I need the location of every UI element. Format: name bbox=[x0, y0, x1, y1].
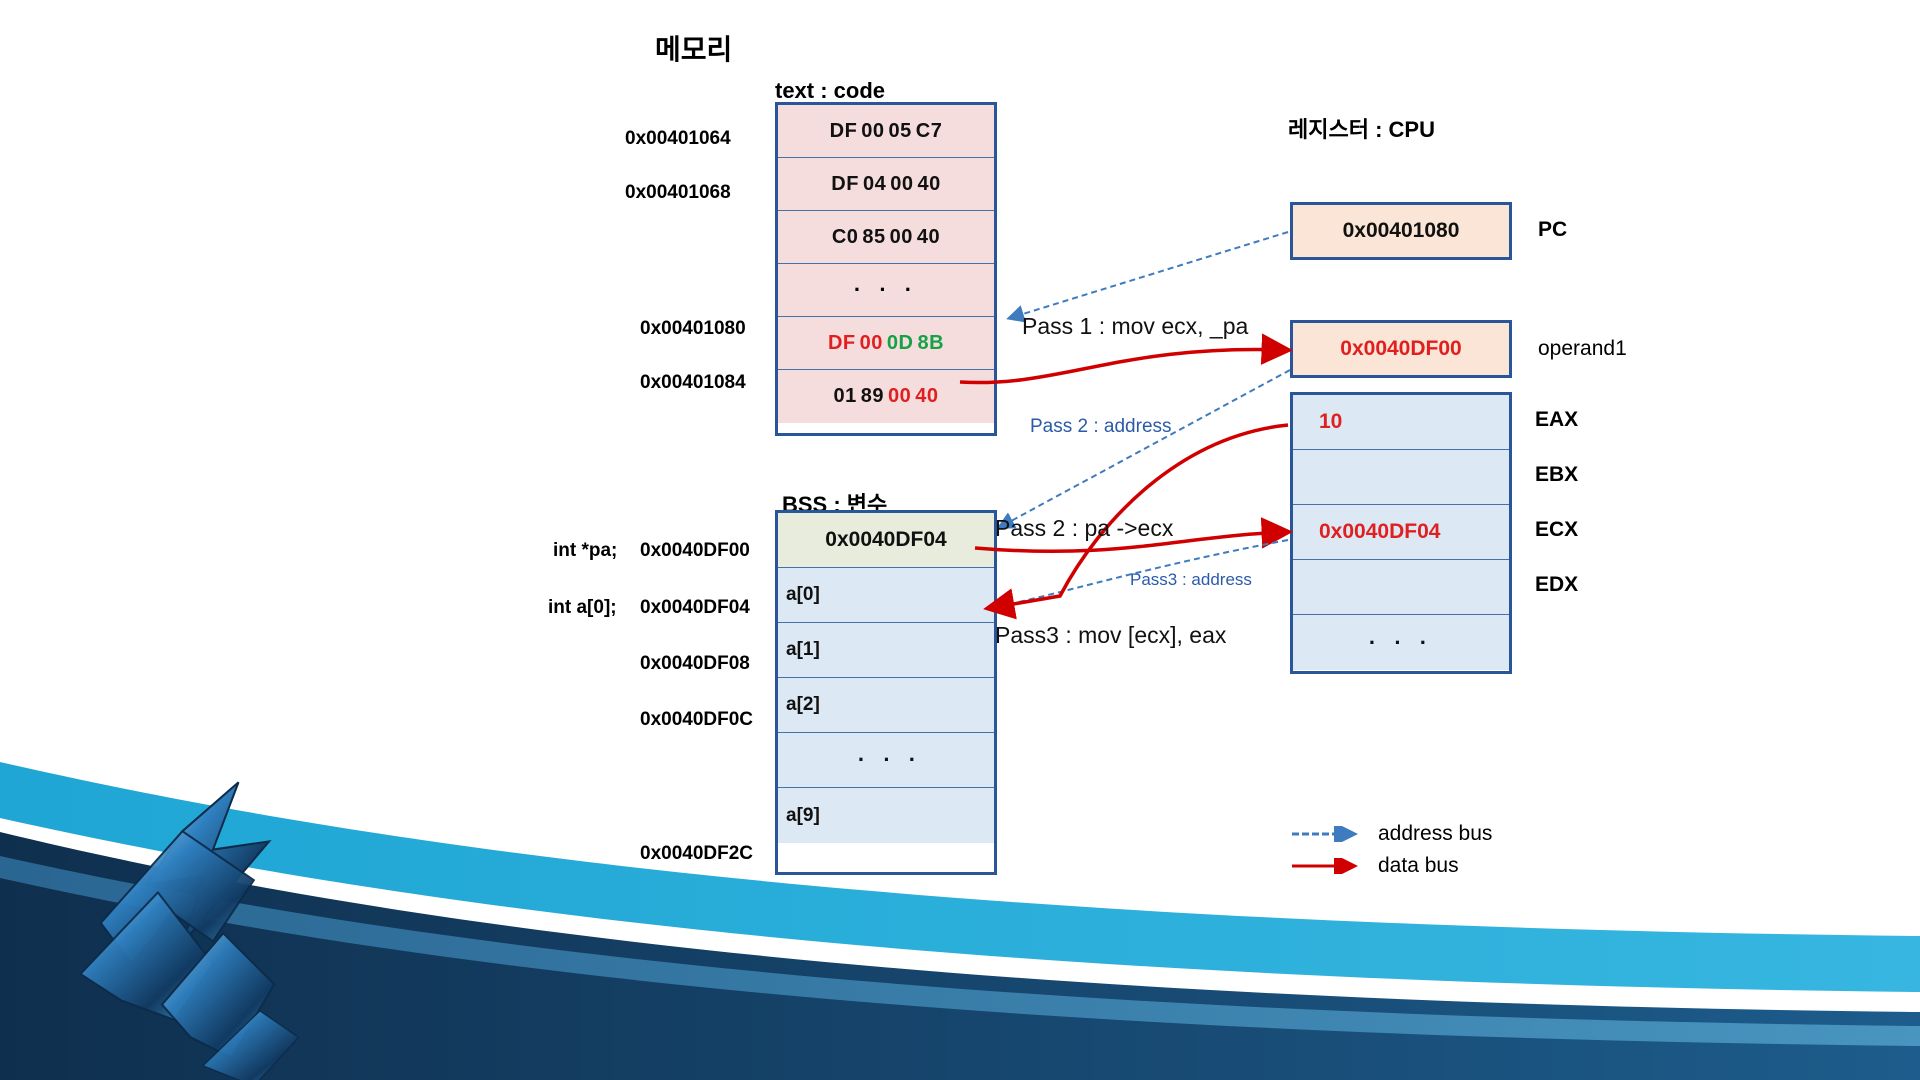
legend-label-data-bus: data bus bbox=[1378, 854, 1459, 878]
arrow-pc-to-code bbox=[1010, 232, 1288, 318]
legend-item-address-bus: address bus bbox=[1290, 818, 1492, 850]
code-address-label: 0x00401064 bbox=[625, 128, 731, 150]
bss-row: a[2] bbox=[778, 678, 994, 733]
bss-address-label: 0x0040DF08 bbox=[640, 653, 750, 675]
code-byte: 89 bbox=[861, 385, 884, 408]
code-address-label: 0x00401068 bbox=[625, 182, 731, 204]
operand1-box: 0x0040DF00 bbox=[1290, 320, 1512, 378]
register-label-edx: EDX bbox=[1535, 573, 1578, 597]
code-byte: C0 bbox=[832, 226, 859, 249]
register-row-edx bbox=[1293, 560, 1509, 615]
bss-address-label: 0x0040DF0C bbox=[640, 709, 753, 731]
register-row-eax: 10 bbox=[1293, 395, 1509, 450]
bss-address-label: 0x0040DF2C bbox=[640, 843, 753, 865]
code-byte: 00 bbox=[861, 120, 884, 143]
legend-label-address-bus: address bus bbox=[1378, 822, 1492, 846]
register-row-ecx: 0x0040DF04 bbox=[1293, 505, 1509, 560]
code-byte: 40 bbox=[915, 385, 938, 408]
code-byte: 40 bbox=[917, 173, 940, 196]
code-byte: 85 bbox=[862, 226, 885, 249]
arrow-code-to-operand1 bbox=[960, 349, 1286, 382]
register-row-ebx bbox=[1293, 450, 1509, 505]
code-byte: DF bbox=[828, 332, 856, 355]
bss-declaration: int *pa; bbox=[553, 540, 617, 562]
bss-row-ellipsis: · · · bbox=[778, 733, 994, 788]
data-bus-line-icon bbox=[1290, 858, 1366, 874]
arrow-operand1-to-bss bbox=[1000, 370, 1290, 527]
bss-declaration: int a[0]; bbox=[548, 597, 617, 619]
code-byte: 40 bbox=[917, 226, 940, 249]
code-byte: 05 bbox=[889, 120, 912, 143]
pass2-ecx-annotation: Pass 2 : pa ->ecx bbox=[995, 515, 1173, 542]
code-byte: DF bbox=[831, 173, 859, 196]
text-code-caption: text : code bbox=[775, 78, 885, 104]
bss-memory-table: 0x0040DF04 a[0] a[1] a[2] · · · a[9] bbox=[775, 510, 997, 875]
code-byte: 00 bbox=[890, 173, 913, 196]
cpu-caption: 레지스터 : CPU bbox=[1288, 112, 1435, 144]
code-row: DF 00 05 C7 bbox=[778, 105, 994, 158]
code-memory-table: DF 00 05 C7 DF 04 00 40 C0 85 00 40 · · … bbox=[775, 102, 997, 436]
code-byte: 00 bbox=[890, 226, 913, 249]
code-row-ellipsis: · · · bbox=[778, 264, 994, 317]
code-row: 01 89 00 40 bbox=[778, 370, 994, 423]
slide-canvas: 메모리 text : code BSS : 변수 레지스터 : CPU DF 0… bbox=[0, 0, 1920, 1080]
code-byte: C7 bbox=[916, 120, 943, 143]
bss-row-pa: 0x0040DF04 bbox=[778, 513, 994, 568]
bus-legend: address bus data bus bbox=[1290, 818, 1492, 882]
code-row: C0 85 00 40 bbox=[778, 211, 994, 264]
code-byte: DF bbox=[830, 120, 858, 143]
pc-register-box: 0x00401080 bbox=[1290, 202, 1512, 260]
code-row-current: DF 00 0D 8B bbox=[778, 317, 994, 370]
memory-caption: 메모리 bbox=[655, 28, 732, 68]
pass1-annotation: Pass 1 : mov ecx, _pa bbox=[1022, 313, 1248, 340]
legend-item-data-bus: data bus bbox=[1290, 850, 1492, 882]
general-register-table: 10 0x0040DF04 · · · bbox=[1290, 392, 1512, 674]
code-row: DF 04 00 40 bbox=[778, 158, 994, 211]
bss-row: a[1] bbox=[778, 623, 994, 678]
address-bus-line-icon bbox=[1290, 826, 1366, 842]
operand1-label: operand1 bbox=[1538, 337, 1627, 361]
code-address-label: 0x00401080 bbox=[640, 318, 746, 340]
register-row-ellipsis: · · · bbox=[1293, 615, 1509, 670]
code-byte: 00 bbox=[860, 332, 883, 355]
pc-register-label: PC bbox=[1538, 218, 1567, 242]
pass3-annotation: Pass3 : mov [ecx], eax bbox=[995, 622, 1226, 649]
code-address-label: 0x00401084 bbox=[640, 372, 746, 394]
code-byte: 00 bbox=[888, 385, 911, 408]
register-label-eax: EAX bbox=[1535, 408, 1578, 432]
register-label-ecx: ECX bbox=[1535, 518, 1578, 542]
bss-row: a[9] bbox=[778, 788, 994, 843]
register-label-ebx: EBX bbox=[1535, 463, 1578, 487]
code-byte: 04 bbox=[863, 173, 886, 196]
bss-address-label: 0x0040DF00 bbox=[640, 540, 750, 562]
bss-address-label: 0x0040DF04 bbox=[640, 597, 750, 619]
bss-row: a[0] bbox=[778, 568, 994, 623]
pass2-address-annotation: Pass 2 : address bbox=[1030, 416, 1172, 438]
code-byte: 8B bbox=[917, 332, 944, 355]
pass3-address-annotation: Pass3 : address bbox=[1130, 570, 1252, 590]
code-byte: 0D bbox=[887, 332, 914, 355]
code-byte: 01 bbox=[834, 385, 857, 408]
